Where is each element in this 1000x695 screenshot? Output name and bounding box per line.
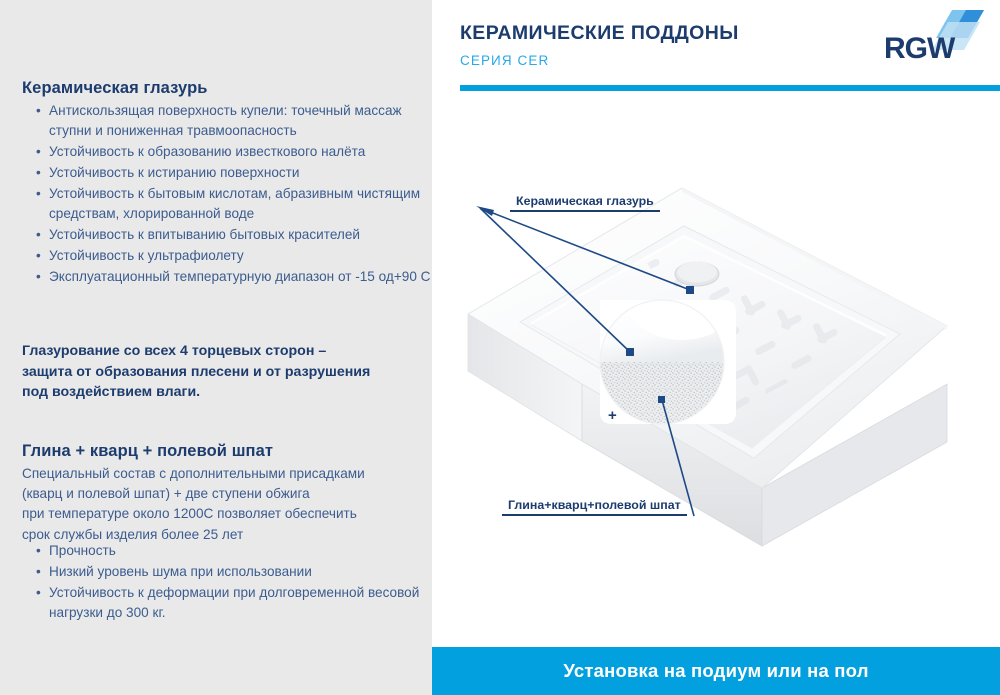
clay-benefits-list: •Прочность •Низкий уровень шума при испо… [32,541,432,624]
section-heading-glaze: Керамическая глазурь [22,79,208,99]
list-item: •Устойчивость к впитыванию бытовых краси… [32,225,432,245]
bullet-icon: • [36,562,41,582]
list-item: •Устойчивость к бытовым кислотам, абрази… [32,184,432,224]
clay-line-1: Специальный состав с дополнительными при… [22,464,422,484]
left-info-panel: Керамическая глазурь •Антискользящая пов… [0,0,432,695]
clay-description-block: Специальный состав с дополнительными при… [22,464,422,545]
list-item-label: Антискользящая поверхность купели: точеч… [49,103,402,138]
clay-line-3: при температуре около 1200С позволяет об… [22,504,422,524]
leader-arrowhead [476,206,494,216]
section-heading-clay: Глина + кварц + полевой шпат [22,442,273,462]
list-item: •Устойчивость к образованию известкового… [32,142,432,162]
callout-clay-quartz-feldspar: Глина+кварц+полевой шпат [502,498,687,516]
list-item-label: Устойчивость к истиранию поверхности [49,165,300,180]
glazing-line-1: Глазурование со всех 4 торцевых сторон – [22,341,422,362]
footer-banner: Установка на подиум или на пол [432,647,1000,695]
product-illustration: + Керамическая глазурь [432,96,1000,641]
list-item-label: Устойчивость к ультрафиолету [49,248,244,263]
rgw-logo: RGW [880,8,992,68]
bullet-icon: • [36,184,41,204]
list-item: •Прочность [32,541,432,561]
slide-root: Керамическая глазурь •Антискользящая пов… [0,0,1000,695]
plus-icon: + [608,407,617,424]
bullet-icon: • [36,163,41,183]
list-item: •Эксплуатационный температурную диапазон… [32,267,432,287]
glazing-line-2: защита от образования плесени и от разру… [22,362,422,383]
callout-underline [502,514,687,516]
list-item-label: Низкий уровень шума при использовании [49,564,312,579]
list-item-label: Устойчивость к впитыванию бытовых красит… [49,227,360,242]
callout-clay-quartz-feldspar-label: Глина+кварц+полевой шпат [502,498,687,514]
page-subtitle: СЕРИЯ CER [460,53,549,68]
bullet-icon: • [36,225,41,245]
page-title: КЕРАМИЧЕСКИЕ ПОДДОНЫ [460,22,739,45]
callout-ceramic-glaze: Керамическая глазурь [510,194,660,212]
list-item: •Устойчивость к истиранию поверхности [32,163,432,183]
tray-illustration-svg: + [432,96,1000,641]
bullet-icon: • [36,142,41,162]
logo-wordmark: RGW [884,32,954,66]
clay-line-2: (кварц и полевой шпат) + две ступени обж… [22,484,422,504]
bullet-icon: • [36,267,41,287]
glaze-benefits-list: •Антискользящая поверхность купели: точе… [32,101,432,288]
glazing-line-3: под воздействием влаги. [22,382,422,403]
bullet-icon: • [36,583,41,603]
list-item-label: Эксплуатационный температурную диапазон … [49,269,431,284]
footer-text: Установка на подиум или на пол [563,660,868,682]
right-content-panel: КЕРАМИЧЕСКИЕ ПОДДОНЫ СЕРИЯ CER RGW [432,0,1000,695]
bullet-icon: • [36,246,41,266]
glazing-sides-block: Глазурование со всех 4 торцевых сторон –… [22,341,422,403]
bullet-icon: • [36,541,41,561]
list-item: •Устойчивость к ультрафиолету [32,246,432,266]
list-item-label: Прочность [49,543,116,558]
list-item-label: Устойчивость к образованию известкового … [49,144,365,159]
list-item: •Устойчивость к деформации при долговрем… [32,583,432,623]
list-item-label: Устойчивость к бытовым кислотам, абразив… [49,186,420,221]
list-item-label: Устойчивость к деформации при долговреме… [49,585,419,620]
bullet-icon: • [36,101,41,121]
list-item: •Антискользящая поверхность купели: точе… [32,101,432,141]
callout-ceramic-glaze-label: Керамическая глазурь [510,194,660,210]
header-divider [460,85,1000,91]
callout-underline [510,210,660,212]
list-item: •Низкий уровень шума при использовании [32,562,432,582]
